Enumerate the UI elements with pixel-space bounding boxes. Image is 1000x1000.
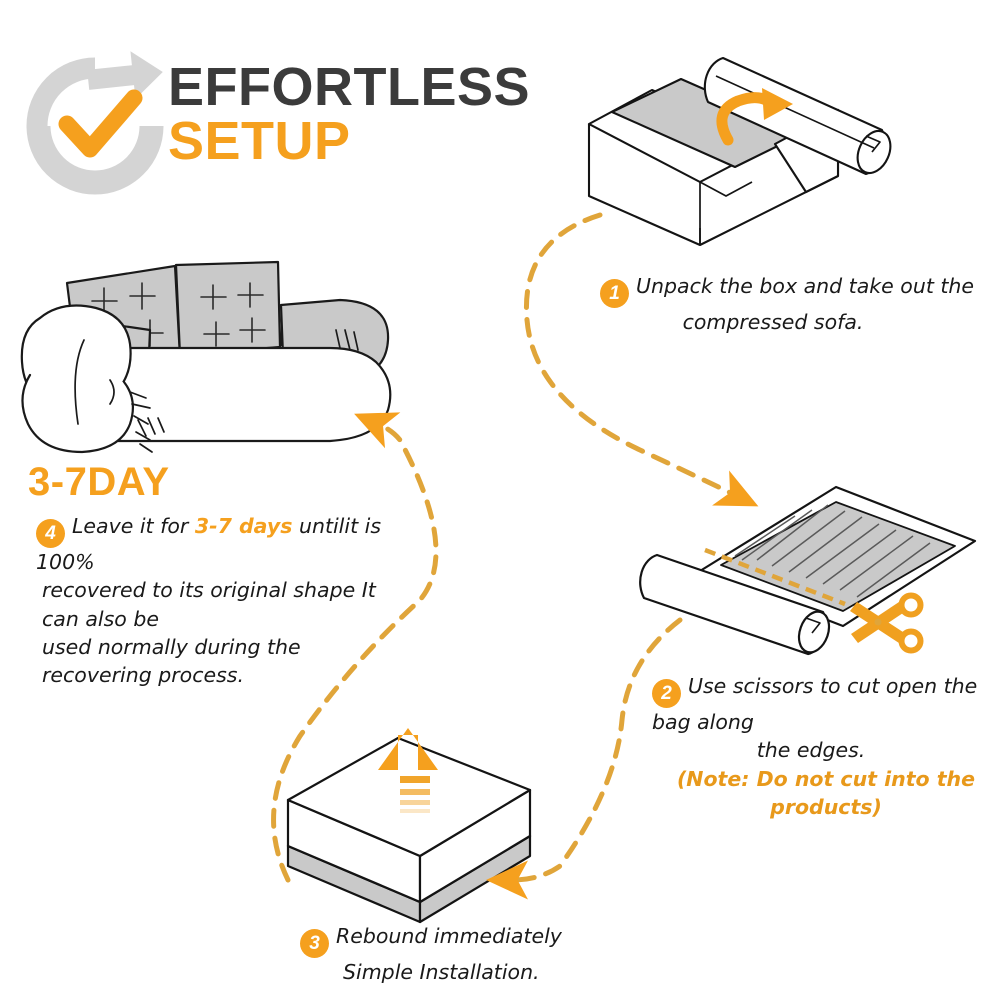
step-4-badge: 4 — [36, 519, 65, 548]
step-3-caption: 3Rebound immediately Simple Installation… — [300, 922, 600, 986]
step-2-badge: 2 — [652, 679, 681, 708]
step-4-line1-highlight: 3-7 days — [195, 514, 293, 538]
duration-heading: 3-7DAY — [28, 460, 170, 505]
carton-box-illustration — [589, 58, 897, 245]
step-3-line1: Rebound immediately — [336, 924, 562, 948]
step-4-line2: recovered to its original shape It can a… — [36, 576, 396, 633]
step-2-line1: Use scissors to cut open the bag along — [652, 674, 977, 734]
step-4-line1-pre: Leave it for — [72, 514, 195, 538]
step-4-line3: used normally during the recovering proc… — [36, 633, 396, 690]
step-3-badge: 3 — [300, 929, 329, 958]
cushion-block-illustration — [288, 728, 530, 922]
step-3-line2: Simple Installation. — [300, 958, 600, 986]
vacuum-bag-illustration — [640, 487, 975, 657]
title-line-effortless: EFFORTLESS — [168, 62, 530, 114]
step-2-line2: the edges. — [652, 736, 1000, 764]
sofa-illustration — [22, 262, 390, 452]
step-1-caption: 1Unpack the box and take out the compres… — [600, 272, 992, 336]
step-1-badge: 1 — [600, 279, 629, 308]
infographic-canvas: EFFORTLESS SETUP 1Unpack the box and tak… — [0, 0, 1000, 1000]
flow-arrow-step1-to-step2 — [526, 215, 735, 495]
step-2-caption: 2Use scissors to cut open the bag along … — [652, 672, 1000, 821]
refresh-check-icon — [37, 48, 165, 184]
step-2-note: (Note: Do not cut into the products) — [652, 765, 1000, 822]
step-1-line2: compressed sofa. — [600, 308, 992, 336]
title-line-setup: SETUP — [168, 116, 530, 168]
step-4-caption: 4Leave it for 3-7 days untilit is 100% r… — [36, 512, 396, 689]
header-title: EFFORTLESS SETUP — [168, 62, 530, 168]
step-1-line1: Unpack the box and take out the — [636, 274, 974, 298]
